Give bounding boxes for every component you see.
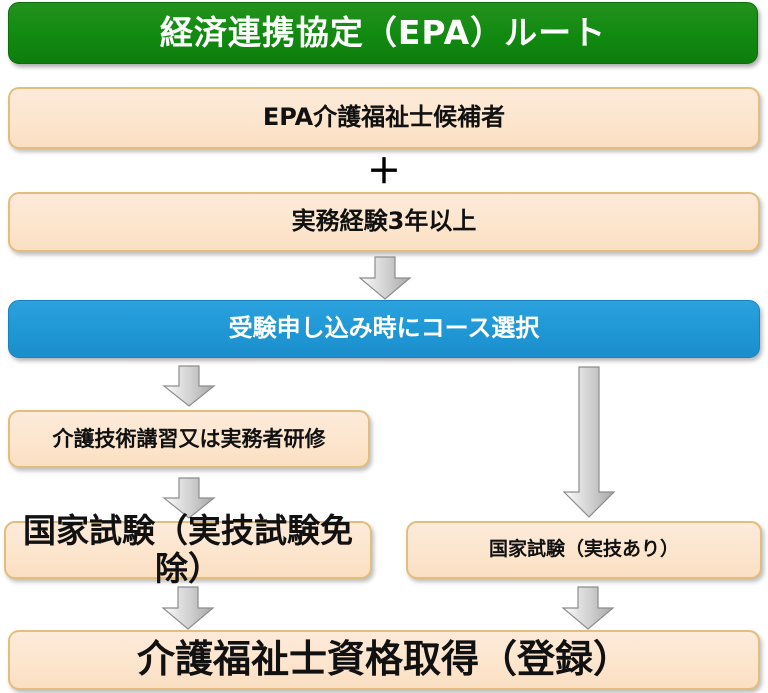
arrow-course-to-training-icon [162, 365, 216, 407]
node-exam-with-practical: 国家試験（実技あり） [406, 521, 762, 579]
node-work-experience-label: 実務経験3年以上 [292, 208, 477, 236]
arrow-experience-to-course-icon [358, 256, 412, 300]
epa-route-flowchart: 経済連携協定（EPA）ルート EPA介護福祉士候補者 ＋ 実務経験3年以上 受験… [0, 0, 768, 693]
node-exam-practical-exempt: 国家試験（実技試験免除） [4, 521, 372, 579]
node-qualification-obtained-label: 介護福祉士資格取得（登録） [137, 638, 631, 682]
node-exam-with-practical-label: 国家試験（実技あり） [489, 539, 679, 561]
node-training-course-label: 介護技術講習又は実務者研修 [53, 427, 326, 451]
node-work-experience: 実務経験3年以上 [8, 192, 760, 252]
plus-symbol: ＋ [364, 155, 404, 189]
arrow-course-to-exam-practical-icon [562, 366, 616, 518]
arrow-exam-exempt-to-qualification-icon [161, 586, 215, 630]
node-exam-practical-exempt-label: 国家試験（実技試験免除） [6, 512, 370, 588]
node-course-selection-label: 受験申し込み時にコース選択 [229, 315, 540, 343]
diagram-title-text: 経済連携協定（EPA）ルート [160, 14, 606, 52]
node-qualification-obtained: 介護福祉士資格取得（登録） [8, 630, 760, 690]
arrow-exam-practical-to-qualification-icon [561, 586, 615, 630]
diagram-title-banner: 経済連携協定（EPA）ルート [8, 2, 758, 64]
node-epa-candidate: EPA介護福祉士候補者 [8, 87, 760, 149]
node-course-selection: 受験申し込み時にコース選択 [8, 300, 760, 358]
node-epa-candidate-label: EPA介護福祉士候補者 [263, 104, 505, 132]
node-training-course: 介護技術講習又は実務者研修 [8, 410, 370, 468]
plus-symbol-glyph: ＋ [367, 155, 401, 189]
